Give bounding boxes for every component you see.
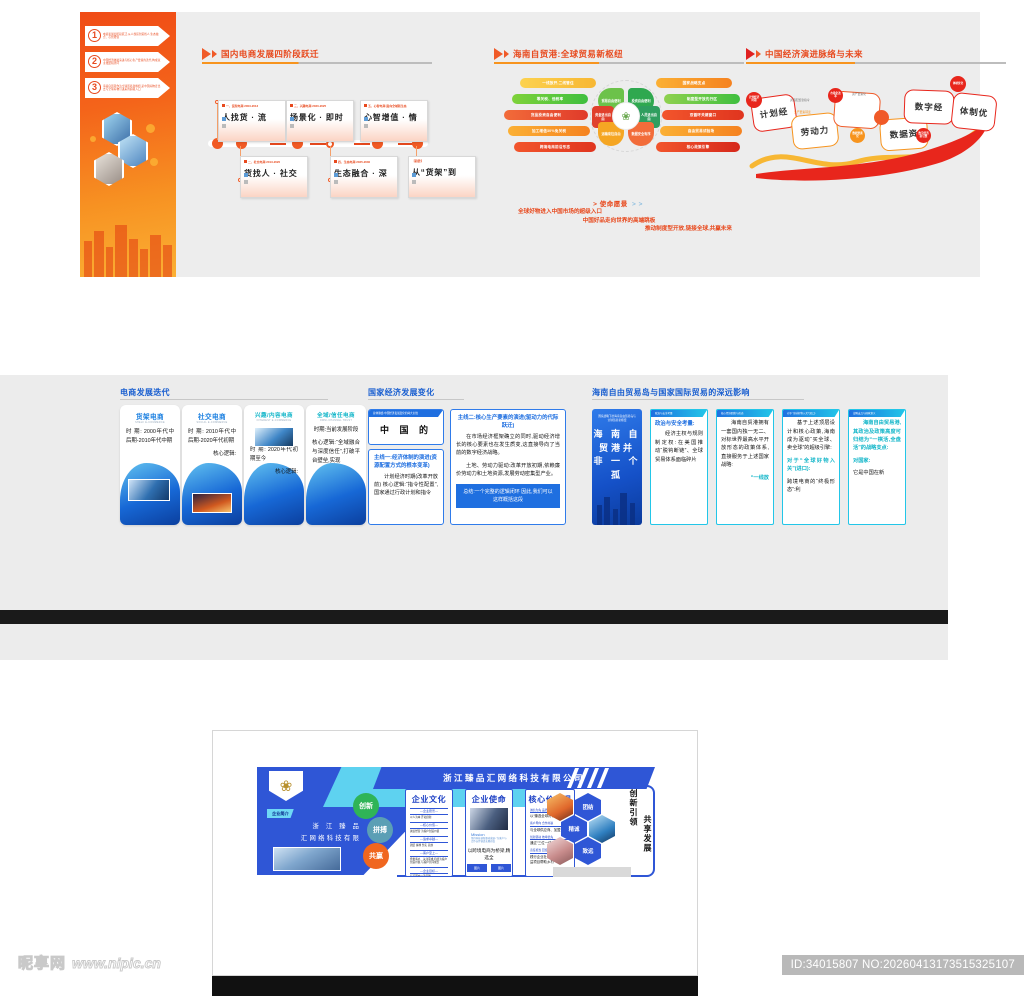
hexagon-value-cluster: 团结 精诚 致远 bbox=[547, 793, 629, 869]
economy-intro-card[interactable]: 总体脉络:中国经济发展变化的两大主线 中 国 的 bbox=[368, 409, 444, 445]
economy-line2-card[interactable]: 主线二:核心生产要素的演进(驱动力的代际跃迁) 在市场经济框架确立的同时,驱动经… bbox=[450, 409, 566, 525]
card-bullet-icon bbox=[334, 180, 338, 184]
decorative-dot bbox=[90, 136, 96, 142]
card-body-extra: 核心逻辑:“全域融合与深度信任”,打破平台壁垒,实现 bbox=[306, 435, 366, 466]
timeline-dash bbox=[310, 143, 326, 146]
intro-photo bbox=[273, 847, 341, 871]
block-title-ecommerce-iteration: 电商发展迭代 bbox=[120, 387, 170, 398]
pill-right[interactable]: 自由贸易试验场 bbox=[660, 126, 742, 136]
city-skyline-graphic bbox=[80, 219, 176, 277]
timeline-card-headline: 从“货架”到 bbox=[412, 167, 472, 178]
mission-line: 推动制度型开放,链接全球,共赢未来 bbox=[494, 225, 744, 234]
economy-node-caption: 资产要素化 bbox=[852, 92, 866, 96]
card-body-extra: 核心逻辑: bbox=[182, 446, 242, 459]
sidebar-item-number: 2 bbox=[88, 55, 101, 68]
card-bullet-icon bbox=[244, 173, 248, 177]
card-thumbnail bbox=[192, 493, 232, 513]
company-name: 浙江臻品汇网络科技有限公司 bbox=[443, 772, 585, 784]
card-heading: 主线一:经济体制的演进(资源配置方式的根本变革) bbox=[369, 450, 443, 471]
pill-left[interactable]: 一线放开,二线管住 bbox=[520, 78, 596, 88]
panel-title-economy: 中国经济演进脉络与未来 bbox=[746, 48, 1006, 60]
watermark-url: www.nipic.cn bbox=[72, 955, 161, 971]
card-heading: 兴趣/内容电商 bbox=[244, 411, 304, 419]
hainan-hero-card[interactable]: 国家战略下的海南自由贸易岛与全球贸易新枢纽 海 南 自贸港并 非 一 个 孤 bbox=[592, 409, 642, 525]
card-body-secondary: 它是中国在新 bbox=[849, 467, 905, 479]
card-bullet-icon bbox=[412, 173, 416, 177]
timeline-card-headline: 人找货 · 流 bbox=[222, 112, 282, 123]
hexagon-label-sincerity[interactable]: 精诚 bbox=[561, 815, 587, 843]
culture-row: —企业目标— 打造国内一流品牌 bbox=[410, 867, 448, 877]
value-circle-innovation[interactable]: 创新 bbox=[353, 793, 379, 819]
hainan-wheel-diagram: 一线放开,二线管住 零关税、低税率 货品投资自由便利 加工增值30%免关税 跨境… bbox=[494, 72, 744, 194]
hexagon-label-farreaching[interactable]: 致远 bbox=[575, 837, 601, 865]
hexagon-photo-cluster bbox=[88, 112, 168, 192]
sidebar-arrow-item[interactable]: 2 中国经济体制演进与核心生产要素的迭代,构成双主线逻辑闭环 bbox=[85, 52, 170, 72]
economy-ribbon-graphic bbox=[746, 70, 1006, 190]
mission-line: 中国好品走向世界的高端跳板 bbox=[494, 217, 744, 226]
hexagon-photo bbox=[547, 837, 573, 865]
mission-button-row: 图片 图片 bbox=[466, 864, 512, 872]
card-body-secondary: 跨境电商的“终极形态”:利 bbox=[783, 476, 839, 497]
economy-node-badge: 体制优化 bbox=[950, 76, 966, 92]
card-big-text: 中 国 的 bbox=[369, 423, 443, 436]
timeline-card-caption: 二、社交电商:2013-2020 bbox=[244, 160, 304, 164]
timeline-card-caption: 四、生态电商:2025-2030 bbox=[334, 160, 394, 164]
culture-row: —企业愿景— 以人为本 开拓创新 bbox=[410, 808, 448, 820]
pill-right[interactable]: 核心政策引擎 bbox=[656, 142, 740, 152]
hainan-card[interactable]: 核心经济职能与形态 海南自贸港拥有一套国内独一无二、对标世界最高水平开放形态的政… bbox=[716, 409, 774, 525]
timeline-card-caption: 一、货架电商:2003-2013 bbox=[222, 104, 282, 108]
card-body: 海南自贸港拥有一套国内独一无二、对标世界最高水平开放形态的政策体系,直接服务于上… bbox=[717, 417, 773, 472]
timeline-card[interactable]: 四、生态电商:2025-2030 生态融合 · 深 bbox=[330, 156, 398, 198]
corporate-wall-graphic: 浙江臻品汇网络科技有限公司 ❀ 企业简介 浙 江 臻 品 汇网络科技有限 创新 … bbox=[257, 767, 655, 877]
timeline-card-headline: 货找人 · 社交 bbox=[244, 168, 304, 179]
mission-block: > 使命愿景 > > 全球好物进入中国市场的超级入口 中国好品走向世界的高端跳板… bbox=[494, 198, 744, 234]
mission-statement: 以跨境电商为桥梁,精选全 bbox=[466, 847, 512, 862]
bottom-black-bar bbox=[212, 976, 698, 996]
card-tag: 核心经济职能与形态 bbox=[717, 410, 773, 417]
panel-economy-evolution: 中国经济演进脉络与未来 计划经 计划经济时期 资源配置靠指令 劳动力 bbox=[746, 48, 1006, 190]
card-shadow-bar bbox=[465, 800, 466, 862]
timeline-card[interactable]: 【趋势】 从“货架”到 bbox=[408, 156, 476, 198]
design-preview-page: 1 电商发展四阶段跃迁,从人找货到货找人,生态融合、心智增值 2 中国经济体制演… bbox=[0, 0, 1024, 996]
value-circle-striving[interactable]: 拼搏 bbox=[367, 817, 393, 843]
card-bullet-icon bbox=[334, 173, 338, 177]
culture-row: —客户至上— 尊重客户、关注需求,持续为客户创造价值,与客户共同成长 bbox=[410, 850, 448, 865]
pill-left[interactable]: 加工增值30%免关税 bbox=[508, 126, 590, 136]
card-shadow-bar bbox=[525, 800, 526, 862]
company-name-band: 浙江臻品汇网络科技有限公司 bbox=[373, 767, 655, 789]
panel-corporate-culture[interactable]: 企业文化 —企业愿景— 以人为本 开拓创新 —核心价值— 诚信经营 为客户创造价… bbox=[405, 789, 453, 877]
block-title-rule bbox=[120, 399, 328, 400]
economy-node-badge: 数据要素化 bbox=[850, 128, 865, 143]
asset-id-badge: ID:34015807 NO:20260413173515325107 bbox=[782, 955, 1024, 975]
timeline-card-caption: 三、兴趣电商:2020-2025 bbox=[290, 104, 350, 108]
card-body: 计划经济时期(改革开放前) 核心逻辑:“指令性配置”,国家通过行政计划和指令 bbox=[369, 471, 443, 500]
mission-line: 全球好物进入中国市场的超级入口 bbox=[494, 208, 744, 217]
card-tag: 战略支点与国家意义 bbox=[849, 410, 905, 417]
hainan-card[interactable]: 对于“全球好物入关”(进口) 基于上述顶层设计和核心政策,海南成为驱动“买全球、… bbox=[782, 409, 840, 525]
timeline-card-headline: 场景化 · 即时 bbox=[290, 112, 350, 123]
photo-placeholder-button[interactable]: 图片 bbox=[467, 864, 487, 872]
card-heading: 主线二:核心生产要素的演进(驱动力的代际跃迁) bbox=[451, 410, 565, 431]
card-tag: 政治与安全考量 bbox=[651, 410, 707, 417]
title-rule bbox=[202, 62, 432, 64]
row-text: 诚信经营 为客户创造价值 bbox=[410, 830, 448, 834]
economy-node-caption: 生产要素转变 bbox=[794, 110, 811, 114]
row-label: —追求卓越— bbox=[410, 836, 448, 843]
freedom-wheel: 贸易自由便利 投资自由便利 资金进出自由 人员进出自由 运输来往自由 数据安全有… bbox=[590, 80, 662, 152]
pill-left[interactable]: 零关税、低税率 bbox=[512, 94, 588, 104]
card-body: 时 期: 2000年代中后期-2010年代中期 bbox=[120, 424, 180, 446]
slogan-left: 创新引领 bbox=[628, 789, 639, 827]
placeholder-strip bbox=[553, 867, 631, 877]
timeline-dash bbox=[270, 143, 286, 146]
card-shadow-bar bbox=[650, 424, 651, 514]
card-shadow-bar bbox=[782, 424, 783, 514]
sidebar-item-label: 海南自贸港作为全球贸易新枢纽,是中国好物走出去与全球好物引进来的超级入口 bbox=[103, 85, 163, 92]
economy-node-badge: 数字经济新引擎 bbox=[916, 128, 931, 143]
card-body: 土地、劳动力驱动:改革开放初期,依赖廉价劳动力和土地资源,发展劳动密集型产业。 bbox=[451, 460, 565, 481]
title-rule bbox=[746, 62, 1006, 64]
timeline-card-caption: 五、心智电商:面向全域新生态 bbox=[364, 104, 424, 108]
card-body: 时 期: 2010年代中后期-2020年代初期 bbox=[182, 424, 242, 446]
pill-left[interactable]: 货品投资自由便利 bbox=[504, 110, 588, 120]
card-shadow-bar bbox=[848, 424, 849, 514]
hainan-card[interactable]: 战略支点与国家意义 海南自由贸易港,其政治及政策高度可归结为“一棋活,全盘活”的… bbox=[848, 409, 906, 525]
card-heading: 社交电商 bbox=[182, 411, 242, 421]
timeline-card-caption: 【趋势】 bbox=[412, 160, 472, 163]
panel-title-text: 中国经济演进脉络与未来 bbox=[765, 48, 863, 60]
hainan-card[interactable]: 政治与安全考量 政治与安全考量: 经济主权与规则制定权:在美国推动“脱钩断链”、… bbox=[650, 409, 708, 525]
block-title-economy-change: 国家经济发展变化 bbox=[368, 387, 434, 398]
timeline-card[interactable]: 一、货架电商:2003-2013 人找货 · 流 bbox=[218, 100, 286, 142]
card-bullet-icon bbox=[364, 117, 368, 121]
card-accent: 对国家: bbox=[849, 455, 905, 467]
section-blue-wall: 电商发展迭代 货架电商 SHELF E-COMMERCE 时 期: 2000年代… bbox=[0, 375, 948, 660]
timeline-card[interactable]: 五、心智电商:面向全域新生态 心智增值 · 情 bbox=[360, 100, 428, 142]
culture-row: —核心价值— 诚信经营 为客户创造价值 bbox=[410, 822, 448, 834]
decorative-dot bbox=[150, 158, 158, 166]
panel-title: 企业文化 bbox=[406, 794, 452, 805]
play-triangle-icon bbox=[494, 48, 509, 60]
timeline-card-headline: 心智增值 · 情 bbox=[364, 112, 424, 123]
economy-node[interactable]: 体制优 bbox=[950, 92, 998, 132]
panel-corporate-mission[interactable]: 企业使命 Mission 坚持科技创新驱动发展 / 为客户与合作伙伴创造长期价值… bbox=[465, 789, 513, 877]
block-title-hainan-impact: 海南自由贸易岛与国家国际贸易的深远影响 bbox=[592, 387, 750, 398]
card-body-extra: 核心逻辑: bbox=[244, 464, 304, 477]
card-body: 在市场经济框架确立的同时,驱动经济增长的核心要素也在发生质变,这直接导向了当前的… bbox=[451, 431, 565, 460]
value-circle-winwin[interactable]: 共赢 bbox=[363, 843, 389, 869]
hexagon-photo bbox=[589, 815, 615, 843]
card-summary-box: 总结:一个完整的逻辑闭环 因此,我们可以这样概括这段 bbox=[456, 484, 560, 508]
card-bullet-icon bbox=[222, 124, 226, 128]
block-title-rule bbox=[368, 399, 464, 400]
orange-wall-panels: 国内电商发展四阶段跃迁 bbox=[176, 12, 980, 277]
section-corporate-wall: 浙江臻品汇网络科技有限公司 ❀ 企业简介 浙 江 臻 品 汇网络科技有限 创新 … bbox=[212, 730, 698, 976]
card-body: 基于上述顶层设计和核心政策,海南成为驱动“买全球、卖全球”的超级引擎: bbox=[783, 417, 839, 455]
panel-title: 企业使命 bbox=[466, 794, 512, 805]
economy-line1-card[interactable]: 主线一:经济体制的演进(资源配置方式的根本变革) 计划经济时期(改革开放前) 核… bbox=[368, 449, 444, 525]
card-heading: 货架电商 bbox=[120, 411, 180, 421]
card-accent: “一线放 bbox=[717, 472, 773, 484]
city-skyline-graphic bbox=[592, 491, 642, 525]
row-text: 以人为本 开拓创新 bbox=[410, 816, 448, 820]
mission-en-sub: 坚持科技创新驱动发展 / 为客户与合作伙伴创造长期价值 bbox=[471, 837, 507, 844]
decorative-dot bbox=[146, 124, 155, 133]
sidebar-arrow-item[interactable]: 3 海南自贸港作为全球贸易新枢纽,是中国好物走出去与全球好物引进来的超级入口 bbox=[85, 78, 170, 98]
sidebar-arrow-item[interactable]: 1 电商发展四阶段跃迁,从人找货到货找人,生态融合、心智增值 bbox=[85, 26, 170, 46]
timeline-card-headline: 生态融合 · 深 bbox=[334, 168, 394, 179]
section-orange-wall: 1 电商发展四阶段跃迁,从人找货到货找人,生态融合、心智增值 2 中国经济体制演… bbox=[80, 12, 980, 277]
timeline-card[interactable]: 二、社交电商:2013-2020 货找人 · 社交 bbox=[240, 156, 308, 198]
panel-title-hainan: 海南自贸港:全球贸易新枢纽 bbox=[494, 48, 744, 60]
pill-right[interactable]: 制度型开放先行区 bbox=[664, 94, 740, 104]
panel-hainan-hub: 海南自贸港:全球贸易新枢纽 一线放开,二线管住 零关税、低税率 货品投资自由便利… bbox=[494, 48, 744, 234]
intro-tag: 企业简介 bbox=[267, 809, 294, 818]
section-divider-bar bbox=[0, 610, 948, 624]
title-rule bbox=[494, 62, 744, 64]
watermark-logo: 昵享网 bbox=[18, 952, 66, 973]
card-body: 时期:当前发展阶段 bbox=[306, 422, 366, 435]
panel-title-text: 海南自贸港:全球贸易新枢纽 bbox=[513, 48, 623, 60]
sidebar-item-number: 3 bbox=[88, 81, 101, 94]
panel-title-text: 国内电商发展四阶段跃迁 bbox=[221, 48, 319, 60]
card-bullet-icon bbox=[290, 117, 294, 121]
economy-node[interactable]: 数字经 bbox=[903, 89, 954, 125]
sidebar-arrow-list: 1 电商发展四阶段跃迁,从人找货到货找人,生态融合、心智增值 2 中国经济体制演… bbox=[80, 12, 176, 98]
card-wave-shape bbox=[306, 463, 366, 525]
decorative-slashes bbox=[571, 768, 611, 788]
row-text: 团结 拼搏 务实 高效 bbox=[410, 844, 448, 848]
economy-node-caption: 资源配置靠指令 bbox=[790, 98, 810, 102]
card-bullet-icon bbox=[412, 180, 416, 184]
timeline: 一、货架电商:2003-2013 人找货 · 流 二、社交电商:2013-202… bbox=[202, 74, 432, 214]
card-bullet-icon bbox=[290, 124, 294, 128]
economy-node[interactable]: 劳动力 bbox=[790, 112, 839, 151]
pill-right[interactable]: 国家战略支点 bbox=[656, 78, 732, 88]
card-body: 经济主权与规则制定权:在美国推动“脱钩断链”、全球贸易体系面临碎片 bbox=[651, 428, 707, 466]
blue-card[interactable]: 兴趣/内容电商 INTEREST E-COMMERCE 时 期: 2020年代初… bbox=[244, 405, 304, 525]
row-label: —核心价值— bbox=[410, 822, 448, 829]
play-triangle-icon bbox=[746, 48, 761, 60]
wall-slogan: 创新引领 共享发展 bbox=[623, 789, 653, 869]
card-title: 政治与安全考量: bbox=[651, 417, 707, 428]
photo-placeholder-button[interactable]: 图片 bbox=[491, 864, 511, 872]
culture-row: —追求卓越— 团结 拼搏 务实 高效 bbox=[410, 836, 448, 848]
card-heading: 全域/信任电商 bbox=[306, 411, 366, 419]
hexagon-photo bbox=[547, 793, 573, 821]
pill-left[interactable]: 跨境电商前沿形态 bbox=[514, 142, 596, 152]
pill-right[interactable]: 双循环关键窗口 bbox=[662, 110, 744, 120]
hexagon-label-unity[interactable]: 团结 bbox=[575, 793, 601, 821]
card-shadow-bar bbox=[716, 424, 717, 514]
sidebar-item-label: 电商发展四阶段跃迁,从人找货到货找人,生态融合、心智增值 bbox=[103, 33, 163, 40]
row-label: —客户至上— bbox=[410, 850, 448, 857]
row-text: 打造国内一流品牌 bbox=[410, 875, 448, 877]
mission-header: > 使命愿景 > > bbox=[494, 198, 744, 208]
card-bullet-icon bbox=[244, 180, 248, 184]
economy-node-badge: 市场化改革 bbox=[828, 88, 843, 103]
economy-node-badge: 计划经济时期 bbox=[746, 92, 762, 108]
blue-wall-panels: 电商发展迭代 货架电商 SHELF E-COMMERCE 时 期: 2000年代… bbox=[0, 375, 948, 600]
card-body: 海南自由贸易港,其政治及政策高度可归结为“一棋活,全盘活”的战略支点: bbox=[849, 417, 905, 455]
economy-node-diagram: 计划经 计划经济时期 资源配置靠指令 劳动力 生产要素转变 市场化改革 数据要素… bbox=[746, 70, 1006, 190]
card-accent: 对于“全球好物入关”(进口): bbox=[783, 455, 839, 476]
hero-big-text: 海 南 自贸港并 非 一 个 孤 bbox=[592, 428, 642, 482]
play-triangle-icon bbox=[202, 48, 217, 60]
card-shadow-bar bbox=[405, 800, 406, 862]
mission-photo bbox=[470, 808, 508, 830]
card-bullet-icon bbox=[222, 117, 226, 121]
card-bullet-icon bbox=[364, 124, 368, 128]
block-title-rule bbox=[592, 399, 804, 400]
row-text: 尊重客户、关注需求,持续为客户创造价值,与客户共同成长 bbox=[410, 858, 448, 865]
card-thumbnail bbox=[254, 427, 294, 447]
row-label: —企业目标— bbox=[410, 867, 448, 874]
card-thumbnail bbox=[128, 479, 170, 501]
timeline-dash bbox=[354, 143, 370, 146]
timeline-card[interactable]: 三、兴趣电商:2020-2025 场景化 · 即时 bbox=[286, 100, 354, 142]
panel-ecommerce-stages: 国内电商发展四阶段跃迁 bbox=[202, 48, 432, 214]
card-tag: 总体脉络:中国经济发展变化的两大主线 bbox=[369, 410, 443, 417]
wheel-hub-icon: ❀ bbox=[612, 102, 640, 130]
sidebar-item-number: 1 bbox=[88, 29, 101, 42]
blue-card[interactable]: 全域/信任电商 OMNI-CHANNEL TRUST 时期:当前发展阶段 核心逻… bbox=[306, 405, 366, 525]
panel-title-ecommerce: 国内电商发展四阶段跃迁 bbox=[202, 48, 432, 60]
blue-card[interactable]: 货架电商 SHELF E-COMMERCE 时 期: 2000年代中后期-201… bbox=[120, 405, 180, 525]
slogan-right: 共享发展 bbox=[642, 815, 653, 853]
row-label: —企业愿景— bbox=[410, 808, 448, 815]
blue-card[interactable]: 社交电商 SOCIAL E-COMMERCE 时 期: 2010年代中后期-20… bbox=[182, 405, 242, 525]
sidebar-item-label: 中国经济体制演进与核心生产要素的迭代,构成双主线逻辑闭环 bbox=[103, 59, 163, 66]
orange-sidebar: 1 电商发展四阶段跃迁,从人找货到货找人,生态融合、心智增值 2 中国经济体制演… bbox=[80, 12, 176, 277]
card-tag: 对于“全球好物入关”(进口) bbox=[783, 410, 839, 417]
hero-tag: 国家战略下的海南自由贸易岛与全球贸易新枢纽 bbox=[592, 409, 642, 422]
watermark: 昵享网 www.nipic.cn bbox=[18, 952, 161, 973]
economy-node-badge bbox=[874, 110, 889, 125]
